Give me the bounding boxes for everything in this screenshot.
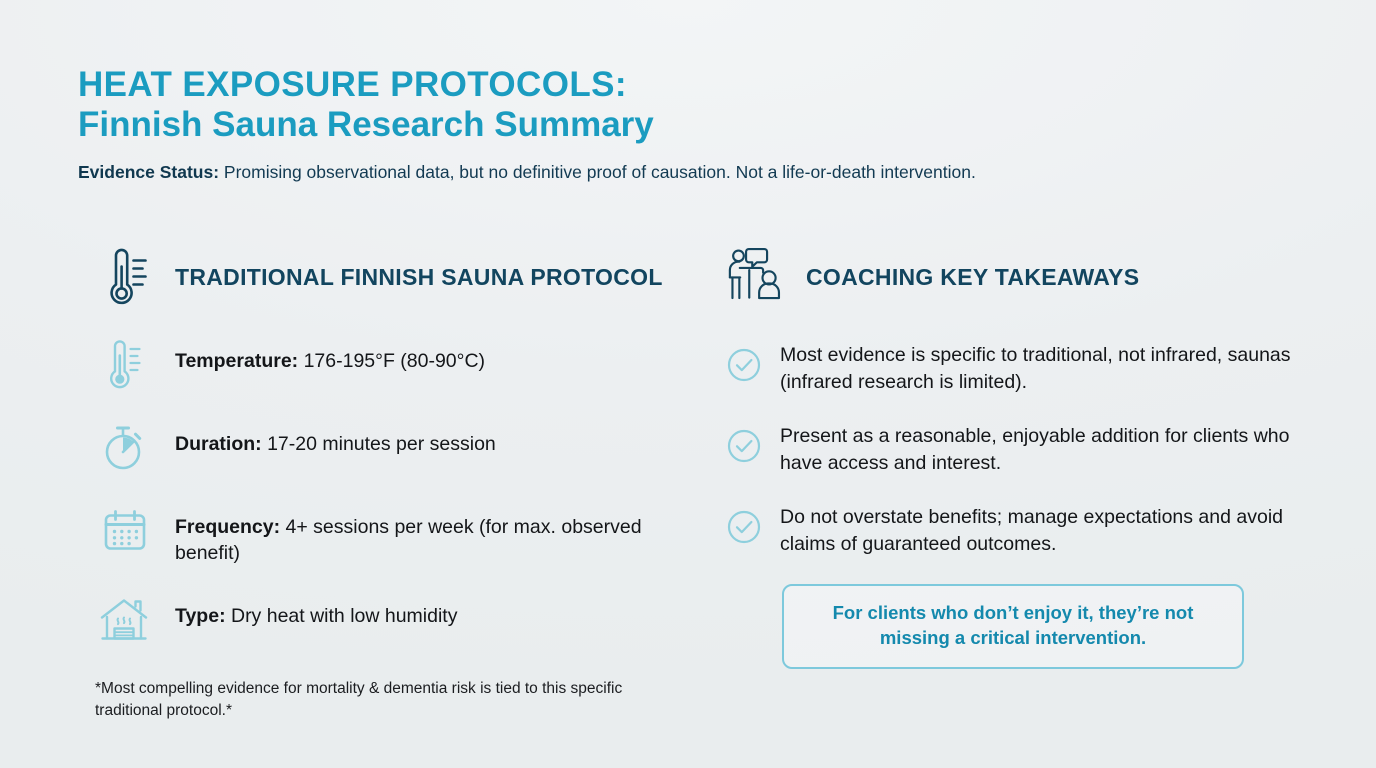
spec-key-type: Type: bbox=[175, 605, 226, 627]
check-circle-icon bbox=[726, 347, 762, 383]
spec-value-temperature: 176-195°F (80-90°C) bbox=[298, 350, 485, 372]
left-column-title: TRADITIONAL FINNISH SAUNA PROTOCOL bbox=[175, 263, 663, 291]
spec-item-duration: Duration: 17-20 minutes per session bbox=[95, 423, 685, 477]
spec-key-temperature: Temperature: bbox=[175, 350, 298, 372]
spec-key-duration: Duration: bbox=[175, 433, 262, 455]
takeaway-text-3: Do not overstate benefits; manage expect… bbox=[780, 504, 1326, 558]
evidence-status-label: Evidence Status: bbox=[78, 162, 219, 182]
thermometer-icon bbox=[95, 336, 157, 394]
spec-item-temperature: Temperature: 176-195°F (80-90°C) bbox=[95, 340, 685, 394]
takeaway-list: Most evidence is specific to traditional… bbox=[726, 342, 1326, 557]
right-column-title: COACHING KEY TAKEAWAYS bbox=[806, 263, 1139, 291]
left-column-protocol: TRADITIONAL FINNISH SAUNA PROTOCOL bbox=[95, 238, 685, 722]
callout-box: For clients who don’t enjoy it, they’re … bbox=[782, 584, 1244, 668]
right-column-takeaways: COACHING KEY TAKEAWAYS Most evidence is … bbox=[726, 238, 1326, 669]
spec-text-temperature: Temperature: 176-195°F (80-90°C) bbox=[175, 340, 485, 374]
takeaway-text-1: Most evidence is specific to traditional… bbox=[780, 342, 1326, 396]
spec-text-duration: Duration: 17-20 minutes per session bbox=[175, 423, 496, 457]
page-title-line-1: HEAT EXPOSURE PROTOCOLS: bbox=[78, 66, 1308, 104]
spec-text-type: Type: Dry heat with low humidity bbox=[175, 595, 457, 629]
spec-item-type: Type: Dry heat with low humidity bbox=[95, 595, 685, 649]
spec-value-duration: 17-20 minutes per session bbox=[262, 433, 496, 455]
coaching-presenter-icon bbox=[726, 242, 788, 312]
spec-value-type: Dry heat with low humidity bbox=[226, 605, 458, 627]
thermometer-icon bbox=[95, 242, 157, 312]
left-column-footnote: *Most compelling evidence for mortality … bbox=[95, 678, 685, 722]
takeaway-text-2: Present as a reasonable, enjoyable addit… bbox=[780, 423, 1326, 477]
right-column-header: COACHING KEY TAKEAWAYS bbox=[726, 238, 1326, 316]
takeaway-item-1: Most evidence is specific to traditional… bbox=[726, 342, 1326, 396]
left-column-header: TRADITIONAL FINNISH SAUNA PROTOCOL bbox=[95, 238, 685, 316]
spec-item-frequency: Frequency: 4+ sessions per week (for max… bbox=[95, 506, 685, 566]
check-circle-icon bbox=[726, 509, 762, 545]
columns-wrapper: TRADITIONAL FINNISH SAUNA PROTOCOL bbox=[0, 238, 1376, 758]
poster-header: HEAT EXPOSURE PROTOCOLS: Finnish Sauna R… bbox=[78, 66, 1308, 185]
spec-key-frequency: Frequency: bbox=[175, 516, 280, 538]
stopwatch-icon bbox=[95, 419, 157, 477]
evidence-status-text: Promising observational data, but no def… bbox=[219, 162, 976, 182]
takeaway-item-2: Present as a reasonable, enjoyable addit… bbox=[726, 423, 1326, 477]
sauna-house-icon bbox=[95, 591, 157, 649]
evidence-status: Evidence Status: Promising observational… bbox=[78, 161, 1308, 185]
spec-text-frequency: Frequency: 4+ sessions per week (for max… bbox=[175, 506, 685, 566]
page-title-line-2: Finnish Sauna Research Summary bbox=[78, 104, 1308, 145]
protocol-spec-list: Temperature: 176-195°F (80-90°C) bbox=[95, 340, 685, 649]
check-circle-icon bbox=[726, 428, 762, 464]
takeaway-item-3: Do not overstate benefits; manage expect… bbox=[726, 504, 1326, 558]
infographic-poster: HEAT EXPOSURE PROTOCOLS: Finnish Sauna R… bbox=[0, 0, 1376, 768]
calendar-icon bbox=[95, 502, 157, 560]
